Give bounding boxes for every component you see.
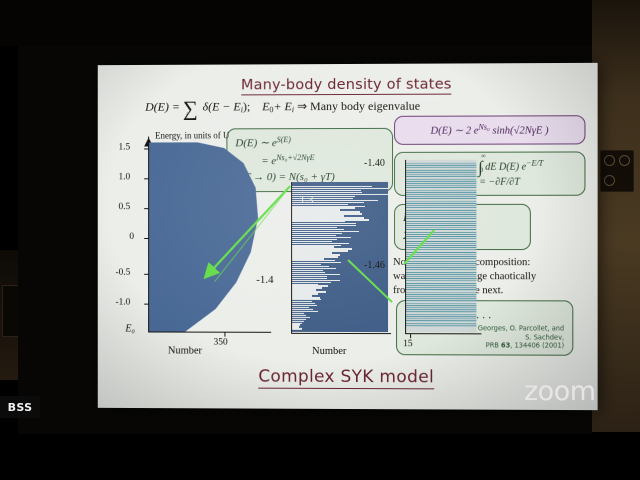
plot3-level-line: [406, 309, 476, 310]
plot3-level-line: [406, 174, 476, 175]
plot3-level-line: [406, 265, 476, 266]
slide-title-bottom-text: Complex SYK model: [258, 367, 434, 390]
plot3-level-line: [406, 163, 476, 164]
plot3-level-line: [406, 198, 476, 199]
plot3-level-line: [406, 254, 476, 255]
eigen-plus-e: + E: [273, 99, 291, 113]
plot3-level-line: [406, 229, 476, 230]
plot3-level-line: [406, 196, 476, 197]
plot3-level-line: [406, 225, 476, 226]
slide-title-top-text: Many-body density of states: [241, 77, 452, 96]
plot3-ytick-bottom: -1.46: [364, 260, 385, 271]
plot3-level-line: [406, 287, 476, 288]
plot3-level-line: [406, 165, 476, 166]
plot3-level-line: [406, 267, 476, 268]
plot2-x-label: Number: [312, 346, 346, 357]
plot3-level-line: [406, 232, 476, 233]
plot3-level-line: [406, 296, 476, 297]
plot3-level-line: [406, 205, 476, 206]
plot1-density-region: [149, 142, 270, 332]
delta-term: δ(E − E: [203, 99, 241, 113]
slide-title-top: Many-body density of states: [98, 75, 598, 95]
plot3-level-line: [406, 234, 476, 235]
wall-control-panel: [600, 150, 634, 192]
integrand-exponent: −E/T: [526, 159, 543, 168]
eigen-sub-i: i: [292, 105, 294, 114]
plot2-bar: [292, 328, 302, 329]
plot3-level-line: [406, 245, 476, 246]
plot3-level-line: [406, 261, 476, 262]
plot3-level-line: [406, 236, 476, 237]
projection-screen: Many-body density of states D(E) = ∑i δ(…: [18, 46, 592, 434]
plot3-level-line: [406, 218, 476, 219]
room-floor: [0, 432, 640, 480]
plot3-level-line: [406, 263, 476, 264]
plot3-level-line: [406, 169, 476, 170]
equation-lhs: D(E) =: [145, 100, 180, 114]
plot3-level-line: [406, 252, 476, 253]
plot3-level-line: [406, 216, 476, 217]
plot3-level-line: [406, 298, 476, 299]
plot3-level-line: [406, 181, 476, 182]
plot1-ytick-2: 0.5: [118, 202, 130, 212]
plot3-level-line: [406, 314, 476, 315]
plot1-xtick: 350: [214, 338, 228, 348]
plot3-level-line: [406, 212, 476, 213]
plot3-level-line: [406, 209, 476, 210]
plot3-level-line: [406, 283, 476, 284]
plot3-level-line: [406, 207, 476, 208]
plot1-ytick-1: 1.0: [118, 172, 130, 182]
plot3-level-line: [406, 320, 476, 321]
plot3-level-line: [406, 189, 476, 190]
plot2-ytick-bottom: -1.4: [256, 274, 273, 286]
room-ceiling: [0, 0, 640, 46]
plot3-level-line: [406, 223, 476, 224]
presentation-slide: Many-body density of states D(E) = ∑i δ(…: [98, 63, 598, 410]
plot3-level-line: [406, 172, 476, 173]
figure-panel: Energy, in units of U 1.5 1.0 0.5 0 -0.5…: [116, 134, 485, 363]
plot3-level-line: [406, 203, 476, 204]
zoom-watermark: zoom: [524, 376, 596, 407]
citation-pages: , 134406 (2001): [510, 341, 564, 349]
plot3-level-line: [406, 274, 476, 275]
plot3-level-line: [406, 243, 476, 244]
plot3-level-line: [406, 192, 476, 193]
plot3-ytick-top: -1.40: [364, 158, 385, 169]
delta-close: );: [243, 99, 250, 113]
plot3-level-line: [406, 307, 476, 308]
plot3-level-line: [406, 272, 476, 273]
plot2-x-axis: [291, 333, 391, 335]
sinh-exponent: Ns₀: [478, 123, 489, 132]
plot1-ytick-0: 1.5: [118, 143, 130, 153]
plot3-level-line: [406, 281, 476, 282]
plot1-ytick-4: -0.5: [116, 268, 131, 278]
plot3-level-line: [406, 289, 476, 290]
plot3-level-line: [406, 249, 476, 250]
plot3-level-line: [406, 323, 476, 324]
main-equation: D(E) = ∑i δ(E − Ei); E0+ Ei ⇒ Many body …: [145, 98, 565, 114]
eigen-arrow-text: ⇒ Many body eigenvalue: [297, 99, 420, 113]
plot3-y-axis: [405, 160, 406, 334]
sinh-tail: sinh(√2NγE ): [492, 125, 548, 136]
plot3-level-line: [406, 176, 476, 177]
plot3-level-line: [406, 269, 476, 270]
plot3-level-line: [406, 301, 476, 302]
plot1-ytick-3: 0: [129, 232, 134, 242]
plot3-level-line: [406, 305, 476, 306]
plot1-x-label: Number: [168, 345, 202, 356]
plot1-area: [149, 142, 270, 332]
plot3-level-line: [406, 183, 476, 184]
plot3-level-line: [406, 194, 476, 195]
broadcast-label: BSS: [0, 396, 40, 418]
plot3-xtick: 15: [403, 339, 413, 349]
plot3-level-line: [406, 312, 476, 313]
plot3-level-line: [406, 167, 476, 168]
plot3-level-line: [406, 187, 476, 188]
plot3-level-line: [406, 276, 476, 277]
broadcast-label-text: BSS: [8, 401, 33, 414]
plot3-level-line: [406, 325, 476, 326]
plot1-ytick-5: -1.0: [116, 298, 131, 308]
plot3-level-line: [406, 278, 476, 279]
plot3-level-line: [406, 292, 476, 293]
plot3-x-axis: [405, 333, 481, 335]
plot3-level-line: [406, 185, 476, 186]
room-wall-right: [592, 0, 640, 440]
slide-title-bottom: Complex SYK model: [98, 366, 598, 388]
plot3-level-line: [406, 241, 476, 242]
plot3-level-line: [406, 201, 476, 202]
plot1-y-origin-label: E₀: [125, 323, 134, 334]
video-frame: Many-body density of states D(E) = ∑i δ(…: [0, 0, 640, 480]
plot3-level-line: [406, 258, 476, 259]
plot3-level-line: [406, 238, 476, 239]
plot3-level-line: [406, 256, 476, 257]
plot3-level-line: [406, 247, 476, 248]
plot3-level-line: [406, 227, 476, 228]
plot3-level-line: [406, 221, 476, 222]
plot2-y-axis: [291, 182, 292, 334]
plot3-level-line: [406, 178, 476, 179]
plot3-level-line: [406, 214, 476, 215]
plot3-level-line: [406, 303, 476, 304]
summation-index: i: [186, 112, 188, 120]
citation-journal: PRB: [486, 341, 501, 349]
plot3-level-line: [406, 285, 476, 286]
plot1-y-axis-label: Energy, in units of U: [155, 130, 229, 140]
citation-volume: 63: [501, 341, 510, 349]
plot3-level-line: [406, 316, 476, 317]
plot3-area: [406, 160, 476, 333]
plot3-level-line: [406, 318, 476, 319]
plot2-ytick-top: -1.3: [296, 194, 313, 206]
plot3-level-line: [406, 294, 476, 295]
integrand-text: dE D(E) e: [485, 162, 526, 173]
